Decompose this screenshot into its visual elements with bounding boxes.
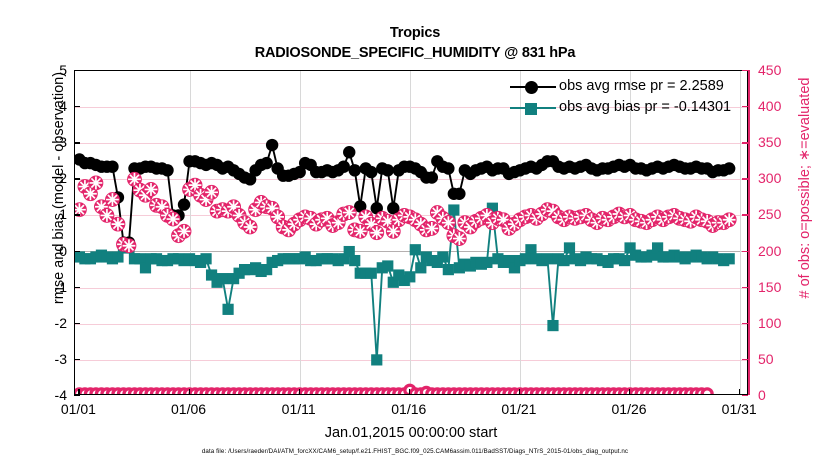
y-axis-right-tick-label: 250 [758,207,798,221]
data-file-footer: data file: /Users/raeder/DAI/ATM_forcXX/… [0,448,830,455]
legend-swatch-bias [510,99,556,117]
y-axis-right-tick-label: 50 [758,352,798,366]
y-axis-left-tick-mark [74,214,80,215]
y-axis-left-tick-mark [74,251,80,252]
y-axis-left-tick-mark [74,323,80,324]
plot-area [74,70,748,395]
x-axis-tick-label: 01/01 [43,402,113,416]
y-axis-left-tick-mark [74,106,80,107]
y-axis-left-tick-mark [74,359,80,360]
y-axis-left-tick-label: -3 [27,352,67,366]
y-axis-right-tick-mark [742,106,748,107]
series--of-obs-possible [75,384,714,395]
y-axis-right-tick-mark [742,214,748,215]
filled-circle-icon [525,81,538,94]
y-axis-right-tick-mark [742,251,748,252]
x-axis-tick-label: 01/11 [264,402,334,416]
x-axis-tick-mark [78,389,79,395]
y-axis-right-tick-mark [742,70,748,71]
chart-title-region: Tropics [0,24,830,43]
x-axis-tick-label: 01/26 [594,402,664,416]
x-axis-tick-mark [629,389,630,395]
y-axis-left-tick-label: -4 [27,388,67,402]
y-axis-right-tick-label: 100 [758,316,798,330]
y-axis-right-tick-mark [742,359,748,360]
y-axis-left-tick-mark [74,287,80,288]
x-axis-tick-mark [299,389,300,395]
y-axis-left-tick-mark [74,178,80,179]
legend-item-rmse: obs avg rmse pr = 2.2589 [510,76,731,97]
x-axis-tick-label: 01/31 [704,402,774,416]
y-axis-right-tick-mark [742,323,748,324]
plot-data-layer [75,71,748,395]
series--of-obs-evaluated [75,172,737,253]
x-axis-label: Jan.01,2015 00:00:00 start [74,425,748,441]
x-axis-tick-mark [189,389,190,395]
x-axis-tick-label: 01/16 [374,402,444,416]
y-axis-right-tick-label: 200 [758,244,798,258]
y-axis-right-tick-mark [742,142,748,143]
y-axis-right-tick-label: 450 [758,63,798,77]
y-axis-right-tick-label: 0 [758,388,798,402]
y-axis-right-tick-label: 150 [758,280,798,294]
y-axis-left-tick-mark [74,142,80,143]
x-axis-tick-label: 01/21 [484,402,554,416]
y-axis-right-tick-label: 300 [758,171,798,185]
y-axis-right-tick-mark [742,287,748,288]
chart-page: Tropics RADIOSONDE_SPECIFIC_HUMIDITY @ 8… [0,0,830,470]
y-axis-left-label: rmse and bias (model - observation) [51,23,67,353]
legend-swatch-rmse [510,78,556,96]
legend-label-rmse: obs avg rmse pr = 2.2589 [559,76,724,97]
chart-title-block: Tropics RADIOSONDE_SPECIFIC_HUMIDITY @ 8… [0,24,830,63]
y-axis-right-tick-mark [742,178,748,179]
right-axis-line [748,70,750,395]
y-axis-left-tick-mark [74,395,80,396]
x-axis-tick-mark [409,389,410,395]
y-axis-right-tick-label: 350 [758,135,798,149]
legend-label-bias: obs avg bias pr = -0.14301 [559,97,731,118]
y-axis-right-label: # of obs: o=possible; ∗=evaluated [797,23,813,353]
legend-item-bias: obs avg bias pr = -0.14301 [510,97,731,118]
x-axis-tick-mark [739,389,740,395]
chart-title-variable: RADIOSONDE_SPECIFIC_HUMIDITY @ 831 hPa [0,43,830,63]
x-axis-tick-label: 01/06 [154,402,224,416]
chart-legend: obs avg rmse pr = 2.2589 obs avg bias pr… [510,76,731,118]
y-axis-right-tick-label: 400 [758,99,798,113]
filled-square-icon [525,103,537,115]
y-axis-right-tick-mark [742,395,748,396]
x-axis-tick-mark [519,389,520,395]
